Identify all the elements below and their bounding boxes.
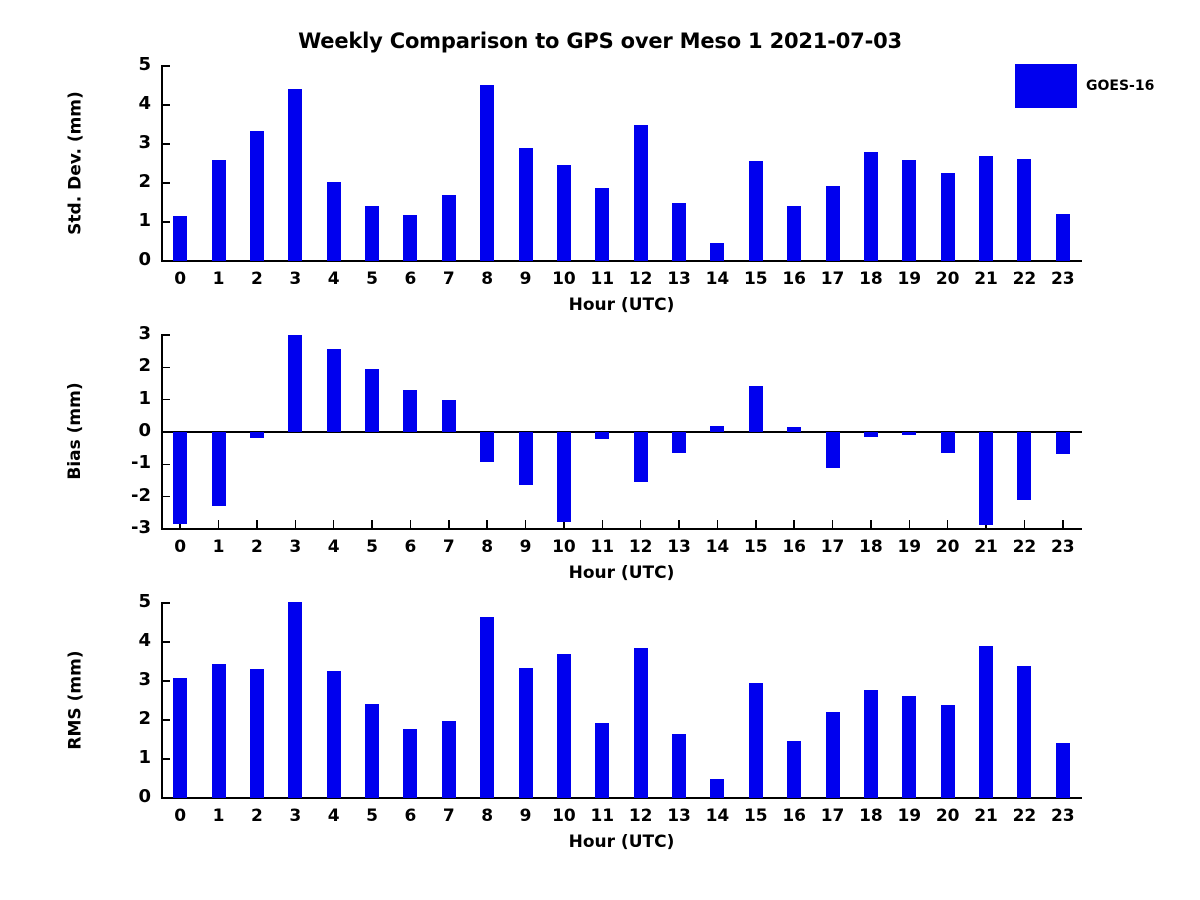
x-axis-tick — [295, 520, 297, 529]
bar — [480, 85, 494, 261]
bar — [941, 432, 955, 453]
bar — [250, 131, 264, 261]
y-axis-spine — [161, 603, 163, 798]
x-axis-tick — [448, 520, 450, 529]
y-axis-tick — [161, 399, 170, 401]
bar — [1017, 159, 1031, 261]
x-axis-tick — [410, 520, 412, 529]
bar — [365, 704, 379, 798]
y-axis-tick-label: 3 — [103, 323, 151, 344]
y-axis-tick-label: 5 — [103, 54, 151, 75]
bar — [212, 160, 226, 261]
x-axis-tick — [947, 520, 949, 529]
y-axis-tick — [161, 431, 170, 433]
y-axis-tick-label: 1 — [103, 747, 151, 768]
y-axis-tick-label: 2 — [103, 708, 151, 729]
y-axis-tick-label: 0 — [103, 420, 151, 441]
y-axis-tick-label: -1 — [103, 452, 151, 473]
x-axis-tick — [640, 520, 642, 529]
panel-bias — [161, 335, 1082, 529]
bar — [634, 125, 648, 261]
chart-figure: Weekly Comparison to GPS over Meso 1 202… — [0, 0, 1200, 900]
bar — [442, 195, 456, 261]
x-axis-tick — [525, 520, 527, 529]
chart-title: Weekly Comparison to GPS over Meso 1 202… — [0, 29, 1200, 53]
bar — [442, 721, 456, 798]
y-axis-tick — [161, 260, 170, 262]
y-axis-tick-label: 1 — [103, 210, 151, 231]
bar — [710, 243, 724, 261]
y-axis-tick — [161, 496, 170, 498]
y-axis-tick — [161, 797, 170, 799]
y-axis-tick — [161, 104, 170, 106]
bar — [327, 182, 341, 261]
y-axis-tick — [161, 143, 170, 145]
x-axis-title: Hour (UTC) — [161, 295, 1082, 315]
y-axis-tick-label: 4 — [103, 93, 151, 114]
bar — [250, 432, 264, 438]
bar — [1056, 432, 1070, 454]
y-axis-tick — [161, 221, 170, 223]
bar — [672, 432, 686, 453]
y-axis-title: RMS (mm) — [65, 572, 85, 827]
x-axis-spine — [161, 528, 1082, 530]
bar — [634, 648, 648, 798]
plot-area-bias — [161, 335, 1082, 529]
bar — [480, 617, 494, 798]
bar — [288, 89, 302, 261]
bar — [826, 186, 840, 261]
bar — [212, 664, 226, 798]
bar — [288, 602, 302, 798]
y-axis-title: Std. Dev. (mm) — [65, 35, 85, 290]
x-axis-tick — [909, 520, 911, 529]
y-axis-tick — [161, 464, 170, 466]
bar — [519, 432, 533, 485]
bar — [1017, 666, 1031, 798]
y-axis-tick-label: -3 — [103, 517, 151, 538]
bar — [173, 432, 187, 524]
y-axis-tick-label: 2 — [103, 171, 151, 192]
x-axis-tick — [486, 520, 488, 529]
x-axis-tick-label: 23 — [1038, 537, 1088, 557]
bar — [327, 349, 341, 432]
bar — [941, 173, 955, 261]
bar — [365, 206, 379, 261]
x-axis-tick — [602, 520, 604, 529]
bar — [941, 705, 955, 798]
bar — [403, 215, 417, 261]
bar — [480, 432, 494, 462]
y-axis-tick — [161, 65, 170, 67]
y-axis-tick — [161, 641, 170, 643]
y-axis-tick-label: 5 — [103, 591, 151, 612]
bar — [557, 432, 571, 522]
x-axis-tick — [1062, 520, 1064, 529]
bar — [787, 741, 801, 798]
y-axis-tick — [161, 680, 170, 682]
bar — [787, 206, 801, 261]
plot-area-std-dev — [161, 66, 1082, 261]
x-axis-tick — [371, 520, 373, 529]
bar — [595, 432, 609, 439]
bar — [365, 369, 379, 432]
x-axis-tick — [678, 520, 680, 529]
y-axis-tick-label: 0 — [103, 786, 151, 807]
y-axis-tick — [161, 758, 170, 760]
bar — [710, 779, 724, 799]
bar — [979, 432, 993, 525]
y-axis-tick-label: 1 — [103, 388, 151, 409]
bar — [1056, 214, 1070, 261]
bar — [902, 160, 916, 261]
bar — [672, 203, 686, 261]
x-axis-title: Hour (UTC) — [161, 563, 1082, 583]
x-axis-tick — [755, 520, 757, 529]
y-axis-spine — [161, 66, 163, 261]
bar — [787, 427, 801, 432]
bar — [403, 729, 417, 798]
legend-label-goes-16: GOES-16 — [1086, 78, 1154, 94]
bar — [634, 432, 648, 482]
bar — [826, 432, 840, 468]
x-axis-tick-label: 23 — [1038, 269, 1088, 289]
bar — [710, 426, 724, 432]
bar — [902, 696, 916, 798]
bar — [749, 683, 763, 798]
y-axis-tick — [161, 528, 170, 530]
x-axis-tick — [717, 520, 719, 529]
bar — [173, 678, 187, 798]
x-axis-tick — [1024, 520, 1026, 529]
x-axis-tick — [256, 520, 258, 529]
bar — [864, 152, 878, 261]
y-axis-tick-label: 2 — [103, 355, 151, 376]
y-axis-tick — [161, 367, 170, 369]
y-axis-tick-label: -2 — [103, 485, 151, 506]
bar — [749, 161, 763, 261]
x-axis-tick — [218, 520, 220, 529]
bar — [519, 148, 533, 261]
bar — [250, 669, 264, 798]
bar — [1056, 743, 1070, 798]
bar — [288, 335, 302, 432]
bar — [749, 386, 763, 432]
y-axis-tick-label: 3 — [103, 669, 151, 690]
y-axis-tick — [161, 602, 170, 604]
bar — [442, 400, 456, 432]
bar — [173, 216, 187, 261]
bar — [595, 188, 609, 261]
x-axis-tick — [832, 520, 834, 529]
bar — [327, 671, 341, 798]
x-axis-tick — [870, 520, 872, 529]
y-axis-tick — [161, 719, 170, 721]
bar — [672, 734, 686, 798]
y-axis-title: Bias (mm) — [65, 304, 85, 558]
x-axis-tick-label: 23 — [1038, 806, 1088, 826]
bar — [1017, 432, 1031, 500]
y-axis-tick-label: 4 — [103, 630, 151, 651]
x-axis-tick — [793, 520, 795, 529]
bar — [864, 432, 878, 437]
panel-std-dev — [161, 66, 1082, 261]
bar — [595, 723, 609, 798]
bar — [519, 668, 533, 798]
y-axis-tick — [161, 334, 170, 336]
bar — [557, 654, 571, 798]
bar — [902, 432, 916, 435]
x-axis-tick — [333, 520, 335, 529]
y-axis-tick-label: 3 — [103, 132, 151, 153]
plot-area-rms — [161, 603, 1082, 798]
y-axis-tick — [161, 182, 170, 184]
bar — [826, 712, 840, 798]
bar — [979, 156, 993, 261]
bar — [403, 390, 417, 432]
x-axis-title: Hour (UTC) — [161, 832, 1082, 852]
bar — [979, 646, 993, 798]
panel-rms — [161, 603, 1082, 798]
y-axis-tick-label: 0 — [103, 249, 151, 270]
bar — [557, 165, 571, 261]
bar — [864, 690, 878, 798]
bar — [212, 432, 226, 506]
